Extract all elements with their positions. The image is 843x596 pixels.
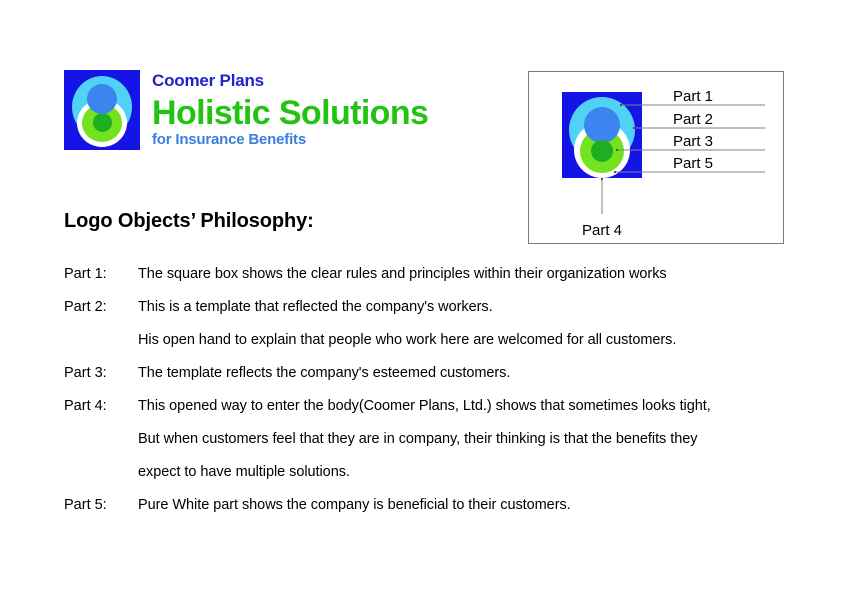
philosophy-list: Part 1: The square box shows the clear r… — [64, 266, 784, 530]
part-text: The square box shows the clear rules and… — [138, 266, 667, 282]
diagram-canvas: Part 1 Part 2 Part 3 Part 5 Part 4 — [529, 72, 781, 241]
part-label: Part 3: — [64, 365, 138, 381]
part-text: The template reflects the company's este… — [138, 365, 510, 381]
part-text: Pure White part shows the company is ben… — [138, 497, 571, 513]
list-item: His open hand to explain that people who… — [64, 332, 784, 365]
part-text: But when customers feel that they are in… — [138, 431, 697, 447]
page-title: Logo Objects’ Philosophy: — [64, 210, 314, 233]
logo-green-dot — [93, 113, 112, 132]
leader-dot-part-3 — [616, 149, 618, 151]
callout-label-part-2: Part 2 — [673, 111, 713, 128]
part-text: This is a template that reflected the co… — [138, 299, 493, 315]
logo-blue-head-circle — [87, 84, 117, 114]
list-item: Part 5: Pure White part shows the compan… — [64, 497, 784, 530]
callout-label-part-4: Part 4 — [582, 222, 622, 239]
part-label: Part 1: — [64, 266, 138, 282]
brand-headline: Holistic Solutions — [152, 96, 428, 130]
leader-dot-part-4 — [601, 178, 603, 180]
part-text: This opened way to enter the body(Coomer… — [138, 398, 711, 414]
list-item: But when customers feel that they are in… — [64, 431, 784, 464]
list-item: Part 1: The square box shows the clear r… — [64, 266, 784, 299]
list-item: Part 4: This opened way to enter the bod… — [64, 398, 784, 431]
brand-name: Coomer Plans — [152, 72, 428, 89]
logo-annotation-diagram: Part 1 Part 2 Part 3 Part 5 Part 4 — [528, 71, 784, 244]
brand-wordmark: Coomer Plans Holistic Solutions for Insu… — [152, 70, 428, 147]
part-label: Part 5: — [64, 497, 138, 513]
diagram-green-dot — [591, 140, 613, 162]
callout-label-part-3: Part 3 — [673, 133, 713, 150]
list-item: Part 3: The template reflects the compan… — [64, 365, 784, 398]
brand-tagline: for Insurance Benefits — [152, 132, 428, 147]
callout-label-part-1: Part 1 — [673, 88, 713, 105]
leader-dot-part-5 — [614, 171, 616, 173]
callout-label-part-5: Part 5 — [673, 155, 713, 172]
diagram-blue-head-circle — [584, 107, 620, 143]
part-label: Part 2: — [64, 299, 138, 315]
part-text: expect to have multiple solutions. — [138, 464, 350, 480]
brand-lockup: Coomer Plans Holistic Solutions for Insu… — [64, 70, 428, 150]
leader-dot-part-1 — [620, 104, 622, 106]
part-text: His open hand to explain that people who… — [138, 332, 676, 348]
list-item: expect to have multiple solutions. — [64, 464, 784, 497]
leader-dot-part-2 — [633, 127, 635, 129]
part-label: Part 4: — [64, 398, 138, 414]
company-logo-mark — [64, 70, 140, 150]
list-item: Part 2: This is a template that reflecte… — [64, 299, 784, 332]
